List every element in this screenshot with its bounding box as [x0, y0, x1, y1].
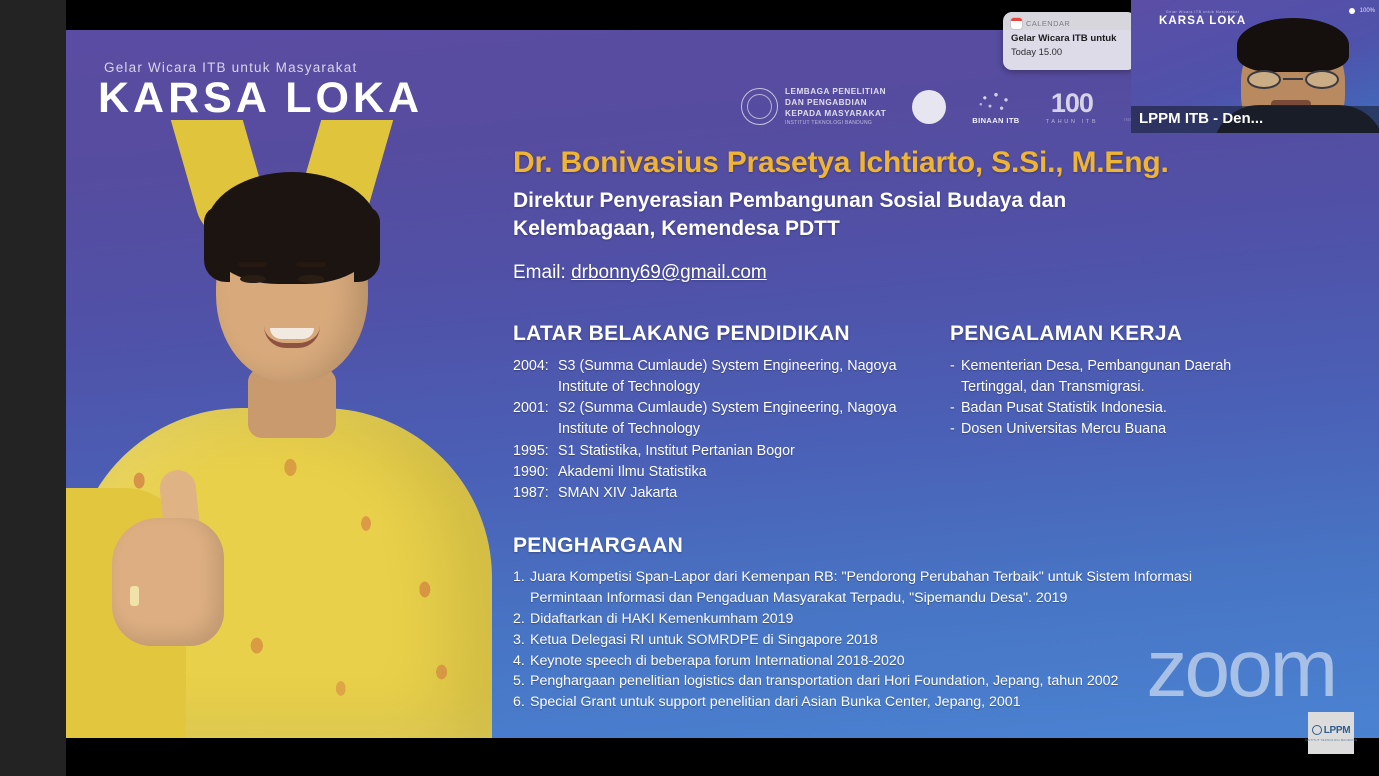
- email-label: Email:: [513, 262, 566, 283]
- menubar-battery-text: 100%: [1360, 8, 1375, 14]
- award-item: 3. Ketua Delegasi RI untuk SOMRDPE di Si…: [513, 630, 1253, 651]
- calendar-icon: [1011, 18, 1022, 29]
- menubar-record-icon: [1349, 8, 1355, 14]
- award-number: 3.: [513, 630, 530, 651]
- glasses-lens-left: [1247, 70, 1281, 89]
- experience-heading: PENGALAMAN KERJA: [950, 322, 1295, 346]
- white-circle-logo-icon: [912, 90, 946, 124]
- experience-section: PENGALAMAN KERJA - Kementerian Desa, Pem…: [950, 322, 1295, 441]
- lppm-badge-mark: LPPM: [1312, 725, 1351, 736]
- lppm-line-1: LEMBAGA PENELITIAN: [785, 87, 886, 96]
- education-item: 2004: S3 (Summa Cumlaude) System Enginee…: [513, 356, 933, 398]
- itb-centennial-logo: 100 TAHUN ITB: [1046, 90, 1099, 125]
- lppm-corner-badge: LPPM INSTITUT TEKNOLOGI BANDUNG: [1308, 712, 1354, 754]
- glasses-bridge: [1283, 78, 1303, 80]
- awards-heading: PENGHARGAAN: [513, 534, 1253, 558]
- karsa-loka-branding: Gelar Wicara ITB untuk Masyarakat KARSA …: [98, 60, 428, 121]
- education-item: 1995: S1 Statistika, Institut Pertanian …: [513, 441, 933, 462]
- notification-app-name: CALENDAR: [1026, 19, 1070, 28]
- portrait-ring: [130, 586, 139, 606]
- education-text: S3 (Summa Cumlaude) System Engineering, …: [558, 356, 933, 398]
- award-number: 1.: [513, 567, 530, 609]
- binaan-network-icon: [976, 90, 1016, 116]
- eyeglasses-icon: [1245, 70, 1341, 89]
- award-text: Penghargaan penelitian logistics dan tra…: [530, 671, 1253, 692]
- education-year: 1995:: [513, 441, 558, 462]
- awards-section: PENGHARGAAN 1. Juara Kompetisi Span-Lapo…: [513, 534, 1253, 713]
- award-item: 5. Penghargaan penelitian logistics dan …: [513, 671, 1253, 692]
- award-text: Juara Kompetisi Span-Lapor dari Kemenpan…: [530, 567, 1253, 609]
- binaan-itb-logo: BINAAN ITB: [972, 90, 1019, 125]
- portrait-eyebrow-left: [238, 262, 268, 267]
- education-year: 2004:: [513, 356, 558, 398]
- speaker-email: Email: drbonny69@gmail.com: [513, 262, 767, 284]
- experience-item: - Badan Pusat Statistik Indonesia.: [950, 398, 1295, 419]
- award-text: Keynote speech di beberapa forum Interna…: [530, 651, 1253, 672]
- award-item: 6. Special Grant untuk support penelitia…: [513, 692, 1253, 713]
- notification-title: Gelar Wicara ITB untuk: [1011, 33, 1128, 44]
- experience-bullet: -: [950, 419, 961, 440]
- brand-title: KARSA LOKA: [98, 77, 428, 121]
- experience-text: Badan Pusat Statistik Indonesia.: [961, 398, 1295, 419]
- zoom-meeting-window: Gelar Wicara ITB untuk Masyarakat KARSA …: [0, 0, 1379, 776]
- zoom-watermark: zoom: [1146, 628, 1335, 710]
- thumbs-up-hand: [112, 518, 224, 646]
- award-item: 1. Juara Kompetisi Span-Lapor dari Kemen…: [513, 567, 1253, 609]
- education-item: 2001: S2 (Summa Cumlaude) System Enginee…: [513, 398, 933, 440]
- education-section: LATAR BELAKANG PENDIDIKAN 2004: S3 (Summ…: [513, 322, 933, 504]
- education-year: 2001:: [513, 398, 558, 440]
- education-text: Akademi Ilmu Statistika: [558, 462, 933, 483]
- experience-item: - Kementerian Desa, Pembangunan Daerah T…: [950, 356, 1295, 398]
- awards-list: 1. Juara Kompetisi Span-Lapor dari Kemen…: [513, 567, 1253, 713]
- award-text: Special Grant untuk support penelitian d…: [530, 692, 1253, 713]
- participant-video-tile[interactable]: Gelar Wicara ITB untuk Masyarakat KARSA …: [1131, 0, 1379, 133]
- itb-seal-icon: [741, 88, 778, 125]
- award-text: Didaftarkan di HAKI Kemenkumham 2019: [530, 609, 1253, 630]
- education-item: 1987: SMAN XIV Jakarta: [513, 483, 933, 504]
- notification-time: Today 15.00: [1011, 46, 1128, 57]
- speaker-name: Dr. Bonivasius Prasetya Ichtiarto, S.Si.…: [513, 146, 1169, 180]
- experience-bullet: -: [950, 356, 961, 398]
- lppm-badge-seal-icon: [1312, 725, 1322, 735]
- binaan-caption: BINAAN ITB: [972, 116, 1019, 125]
- speaker-role: Direktur Penyerasian Pembangunan Sosial …: [513, 187, 1153, 244]
- lppm-badge-sub: INSTITUT TEKNOLOGI BANDUNG: [1305, 738, 1358, 742]
- lppm-badge-text: LPPM: [1324, 725, 1351, 736]
- education-text: SMAN XIV Jakarta: [558, 483, 933, 504]
- award-text: Ketua Delegasi RI untuk SOMRDPE di Singa…: [530, 630, 1253, 651]
- education-year: 1987:: [513, 483, 558, 504]
- award-number: 5.: [513, 671, 530, 692]
- calendar-notification-banner[interactable]: CALENDAR Gelar Wicara ITB untuk Today 15…: [1003, 12, 1136, 70]
- macos-menubar-strip: 100%: [1349, 8, 1375, 14]
- award-item: 2. Didaftarkan di HAKI Kemenkumham 2019: [513, 609, 1253, 630]
- email-address[interactable]: drbonny69@gmail.com: [571, 262, 767, 283]
- notification-header: CALENDAR: [1011, 18, 1128, 29]
- video-bg-tagline: Gelar Wicara ITB untuk Masyarakat: [1159, 10, 1246, 14]
- centennial-caption: TAHUN ITB: [1046, 119, 1099, 125]
- lppm-sub: INSTITUT TEKNOLOGI BANDUNG: [785, 120, 886, 127]
- education-list: 2004: S3 (Summa Cumlaude) System Enginee…: [513, 356, 933, 504]
- lppm-line-3: KEPADA MASYARAKAT: [785, 109, 886, 118]
- portrait-eyebrow-right: [296, 262, 326, 267]
- award-number: 6.: [513, 692, 530, 713]
- participant-name-label: LPPM ITB - Den...: [1131, 106, 1379, 133]
- award-item: 4. Keynote speech di beberapa forum Inte…: [513, 651, 1253, 672]
- glasses-lens-right: [1305, 70, 1339, 89]
- portrait-eye-left: [240, 275, 266, 283]
- speaker-portrait-photo: [66, 120, 506, 738]
- education-year: 1990:: [513, 462, 558, 483]
- education-text: S2 (Summa Cumlaude) System Engineering, …: [558, 398, 933, 440]
- education-item: 1990: Akademi Ilmu Statistika: [513, 462, 933, 483]
- centennial-number: 100: [1046, 90, 1099, 117]
- lppm-logo-text: LEMBAGA PENELITIAN DAN PENGABDIAN KEPADA…: [785, 87, 886, 127]
- portrait-hair: [206, 172, 378, 284]
- brand-tagline: Gelar Wicara ITB untuk Masyarakat: [104, 60, 428, 75]
- award-number: 2.: [513, 609, 530, 630]
- video-hair: [1237, 18, 1349, 72]
- experience-item: - Dosen Universitas Mercu Buana: [950, 419, 1295, 440]
- video-tile-virtual-background: Gelar Wicara ITB untuk Masyarakat KARSA …: [1159, 10, 1246, 27]
- education-text: S1 Statistika, Institut Pertanian Bogor: [558, 441, 933, 462]
- award-number: 4.: [513, 651, 530, 672]
- experience-text: Dosen Universitas Mercu Buana: [961, 419, 1295, 440]
- lppm-itb-logo: LEMBAGA PENELITIAN DAN PENGABDIAN KEPADA…: [741, 87, 886, 127]
- experience-text: Kementerian Desa, Pembangunan Daerah Ter…: [961, 356, 1295, 398]
- education-heading: LATAR BELAKANG PENDIDIKAN: [513, 322, 933, 346]
- portrait-eye-right: [298, 275, 324, 283]
- experience-bullet: -: [950, 398, 961, 419]
- lppm-line-2: DAN PENGABDIAN: [785, 98, 867, 107]
- shared-presentation-slide: Gelar Wicara ITB untuk Masyarakat KARSA …: [66, 30, 1379, 738]
- experience-list: - Kementerian Desa, Pembangunan Daerah T…: [950, 356, 1295, 441]
